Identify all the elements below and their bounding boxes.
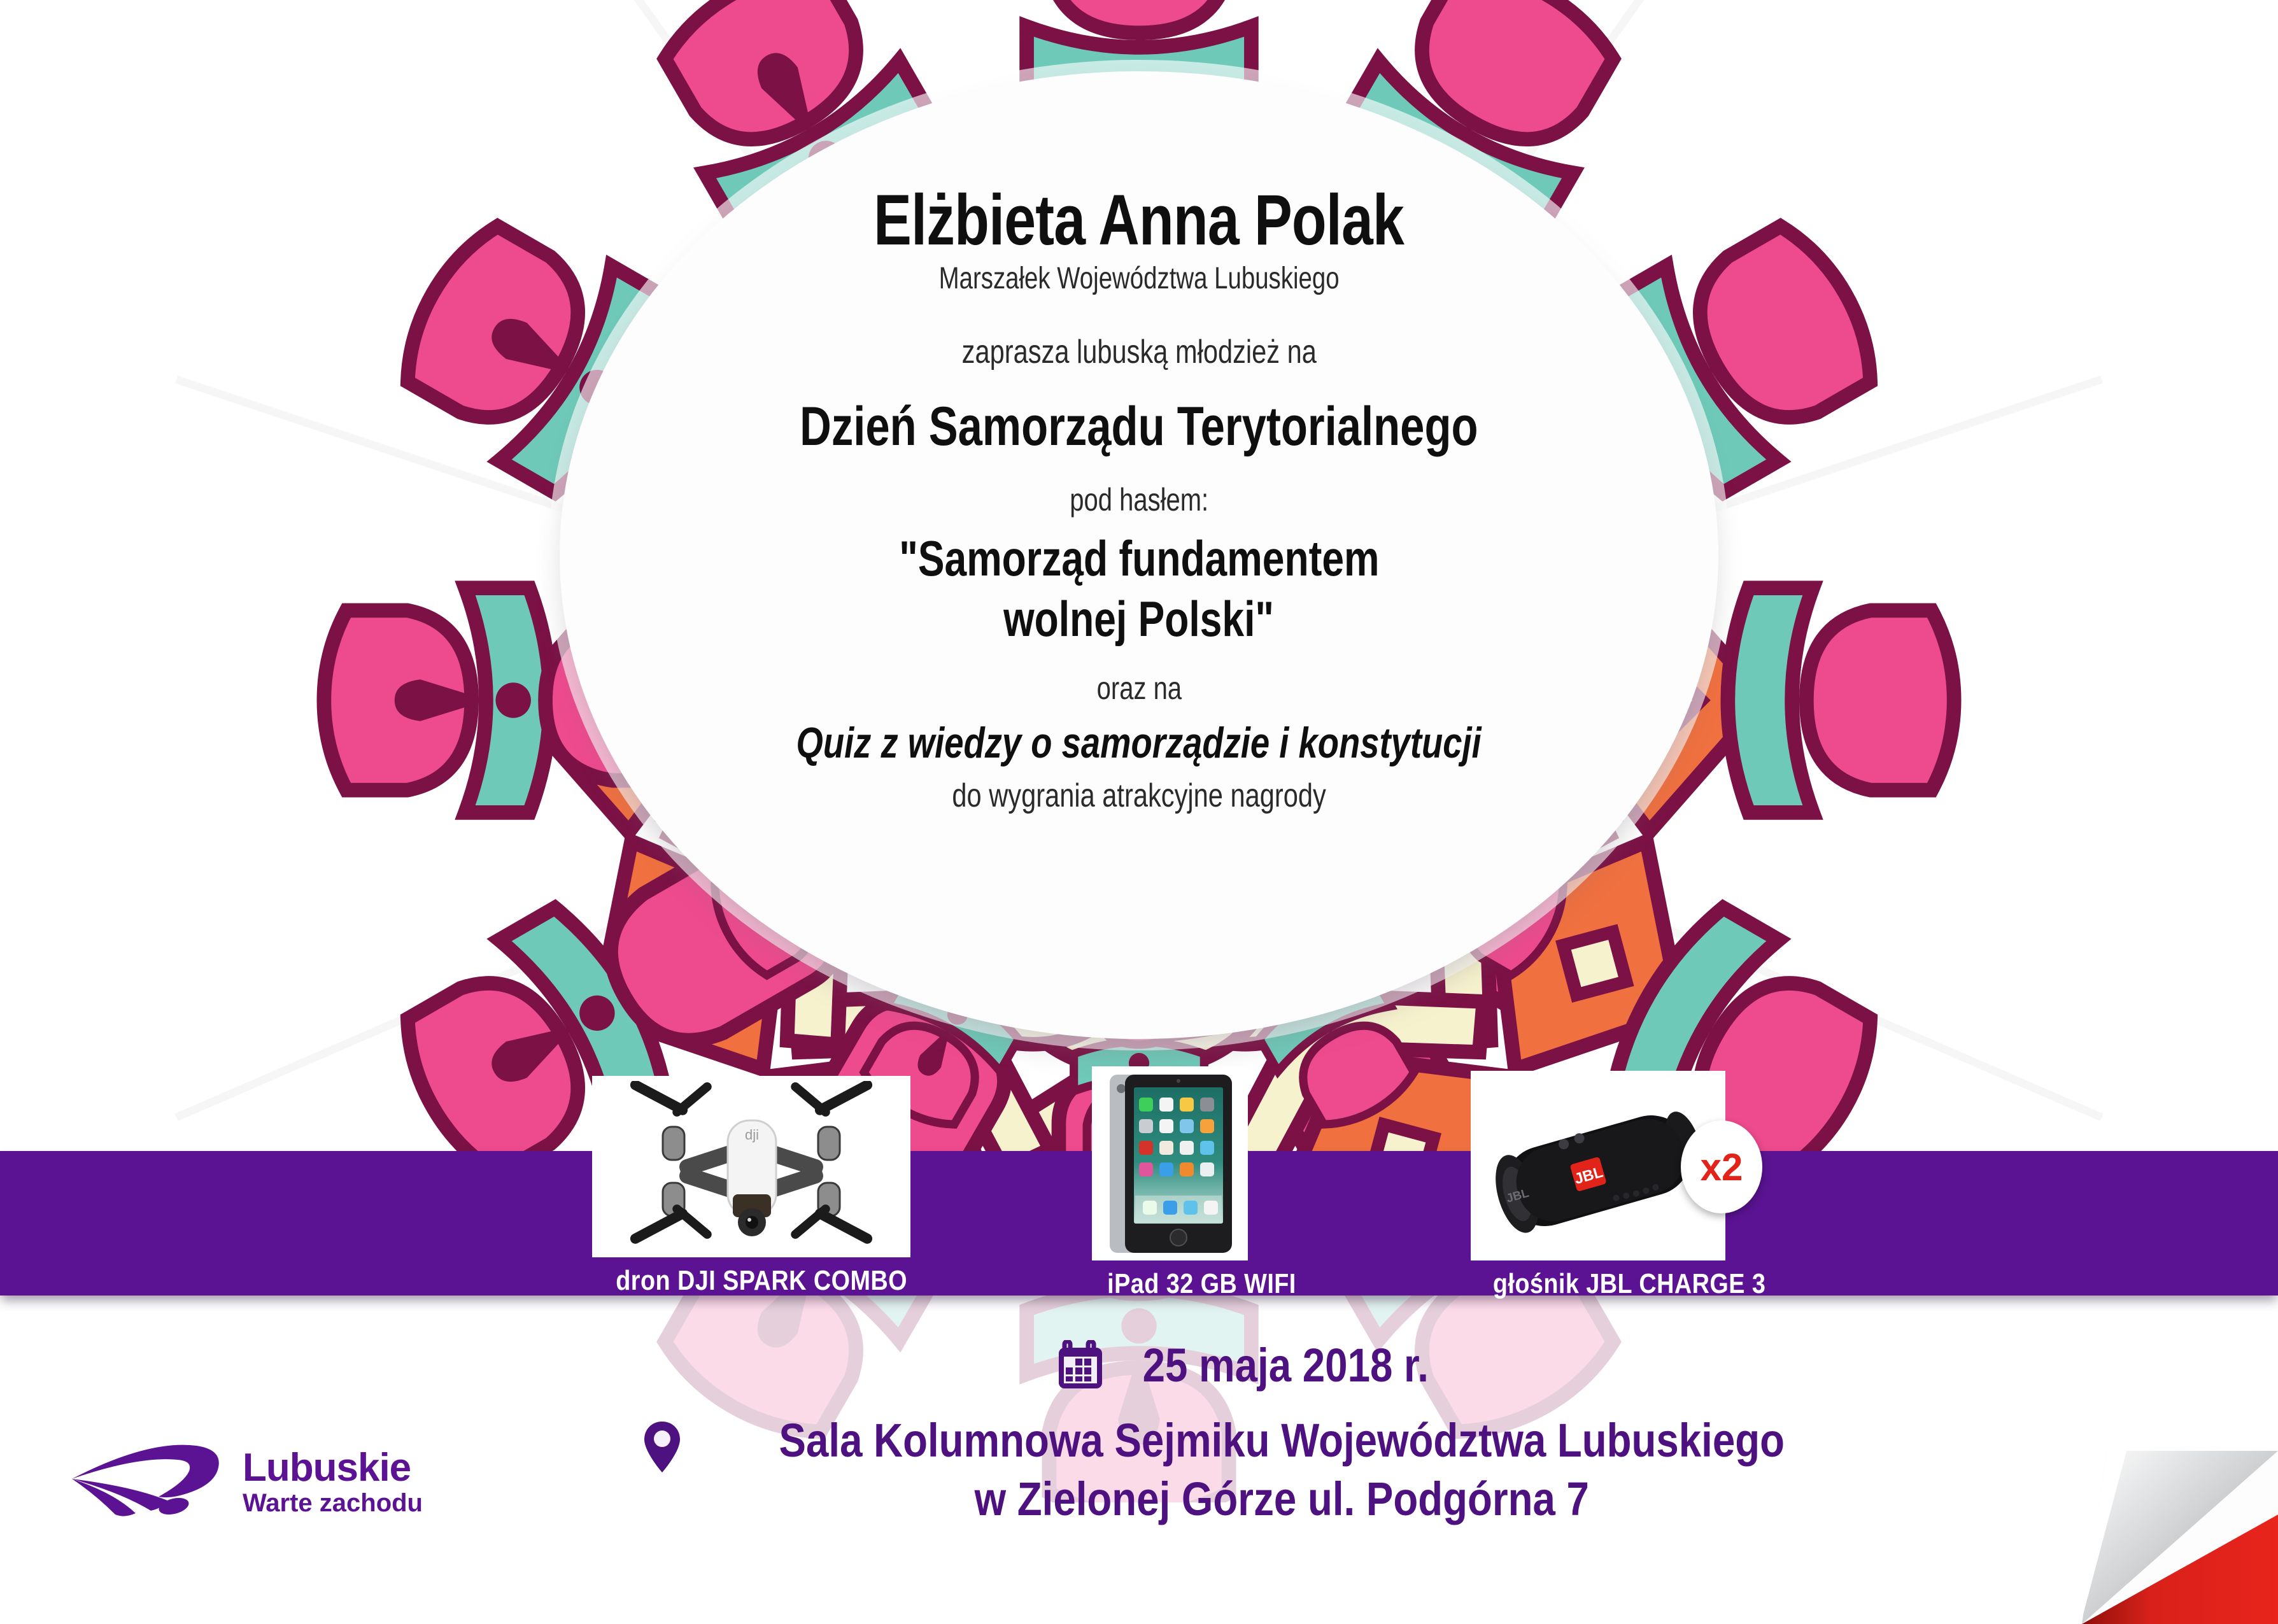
event-title: Dzień Samorządu Terytorialnego	[800, 395, 1478, 458]
circle-text-block: Elżbieta Anna Polak Marszałek Województw…	[560, 71, 1718, 1039]
location-pin-icon	[642, 1419, 682, 1475]
event-date: 25 maja 2018 r.	[1142, 1338, 1428, 1392]
footer: Lubuskie Warte zachodu	[0, 1311, 2278, 1624]
place-line: Sala Kolumnowa Sejmiku Województwa Lubus…	[484, 1411, 2025, 1529]
prize-item-speaker: JBL JBL	[1471, 1071, 1788, 1300]
place-line-1: Sala Kolumnowa Sejmiku Województwa Lubus…	[779, 1411, 1784, 1470]
page-curl-flag-icon	[2068, 1451, 2278, 1624]
poster-root: Elżbieta Anna Polak Marszałek Województw…	[0, 0, 2278, 1624]
drone-icon: dji	[602, 1081, 901, 1253]
calendar-icon	[1057, 1340, 1104, 1391]
prize-item-drone: dji dron DJI SPARK COMBO	[592, 1076, 931, 1297]
prizes-note: do wygrania atrakcyjne nagrody	[952, 777, 1326, 815]
place-line-2: w Zielonej Górze ul. Podgórna 7	[779, 1470, 1784, 1529]
host-name: Elżbieta Anna Polak	[874, 185, 1404, 256]
logo-tagline: Warte zachodu	[243, 1490, 423, 1516]
lubuskie-logo: Lubuskie Warte zachodu	[67, 1442, 423, 1522]
prize-label-ipad: iPad 32 GB WIFI	[1107, 1268, 1296, 1300]
page-curl-corner	[2068, 1451, 2278, 1624]
lubuskie-swoosh-icon	[67, 1442, 226, 1522]
drone-photo: dji	[592, 1076, 910, 1257]
speaker-photo: JBL JBL	[1471, 1071, 1725, 1260]
prizes-row: dji dron DJI SPARK COMBO	[0, 1076, 2278, 1296]
also-line: oraz na	[1096, 670, 1181, 707]
event-info: 25 maja 2018 r. Sala Kolumnowa Sejmiku W…	[484, 1338, 2025, 1529]
motto-lead: pod hasłem:	[1070, 481, 1208, 518]
logo-title: Lubuskie	[243, 1448, 423, 1488]
tablet-icon	[1098, 1071, 1242, 1257]
date-line: 25 maja 2018 r.	[484, 1338, 2025, 1392]
prize-label-speaker: głośnik JBL CHARGE 3	[1493, 1268, 1765, 1300]
lubuskie-logo-text: Lubuskie Warte zachodu	[243, 1448, 423, 1516]
prize-label-drone: dron DJI SPARK COMBO	[616, 1265, 907, 1297]
prize-item-ipad: iPad 32 GB WIFI	[1092, 1066, 1312, 1300]
invitation-line: zaprasza lubuską młodzież na	[961, 333, 1316, 371]
host-role: Marszałek Województwa Lubuskiego	[939, 261, 1340, 296]
quiz-title: Quiz z wiedzy o samorządzie i konstytucj…	[796, 718, 1482, 768]
motto-line-2: wolnej Polski"	[1004, 589, 1275, 649]
motto-line-1: "Samorząd fundamentem	[899, 528, 1379, 589]
svg-text:dji: dji	[745, 1127, 759, 1143]
ipad-photo	[1092, 1066, 1248, 1260]
badge-quantity-x2: x2	[1681, 1120, 1762, 1213]
